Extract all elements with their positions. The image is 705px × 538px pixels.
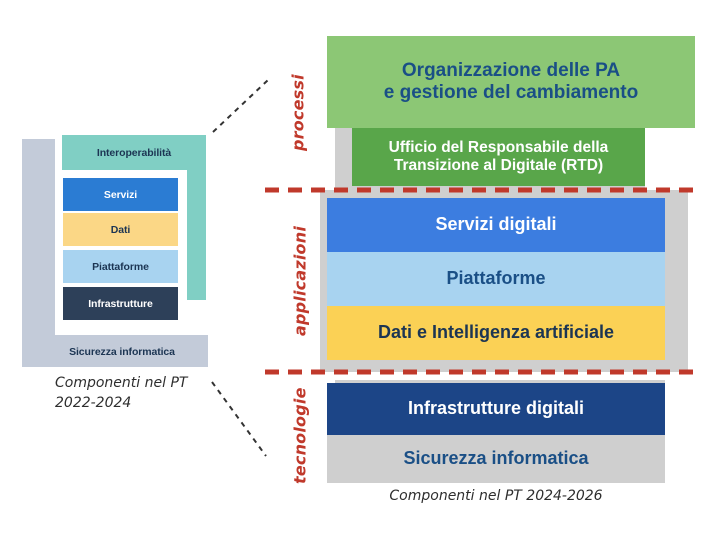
band-label-processi: processi	[286, 48, 310, 178]
diagram-canvas: Interoperabilità Servizi Dati Piattaform…	[0, 0, 705, 538]
right-diagram-caption: Componenti nel PT 2024-2026	[327, 488, 665, 504]
band-separators	[0, 0, 705, 538]
band-label-applicazioni: applicazioni	[288, 200, 312, 362]
band-label-tecnologie: tecnologie	[288, 386, 312, 486]
